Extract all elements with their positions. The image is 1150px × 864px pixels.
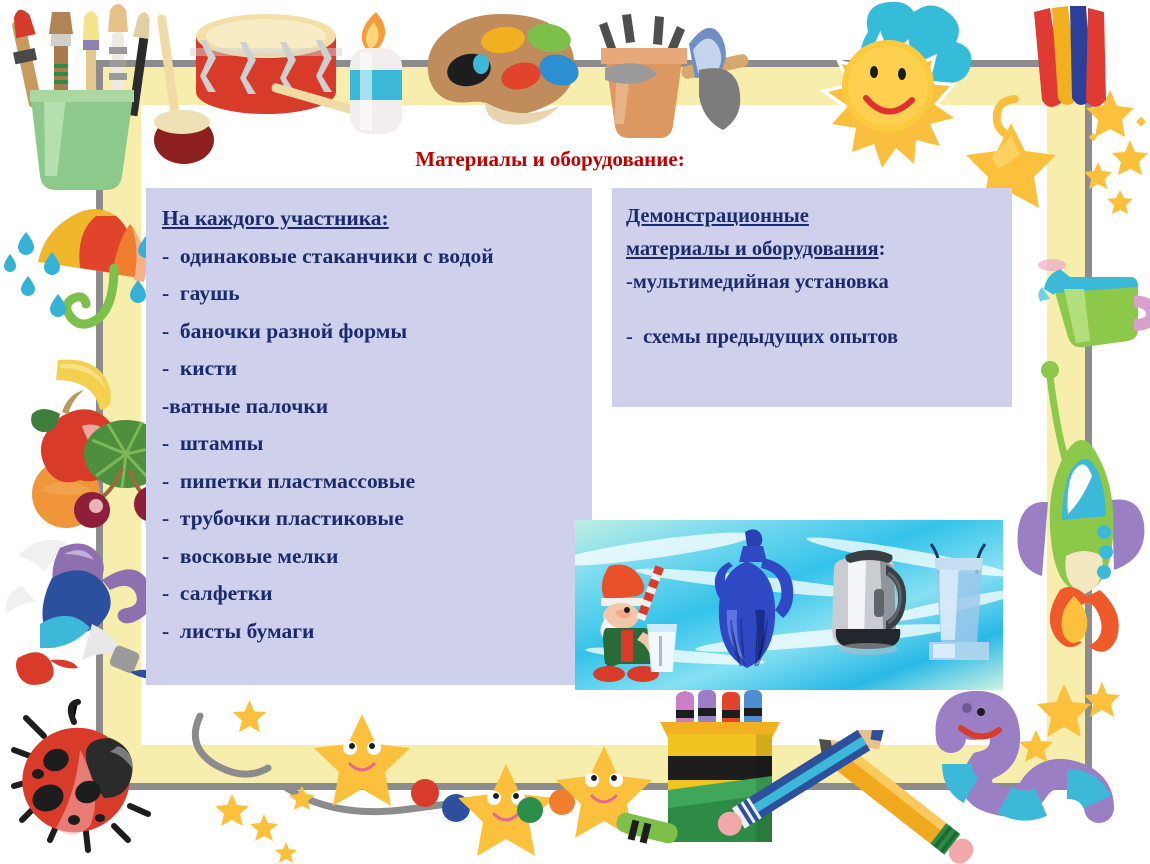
right-box-heading-line2-row: материалы и оборудования: [626, 233, 1012, 266]
stars-bottom-right-icon [1026, 682, 1126, 772]
list-item: - салфетки [162, 575, 592, 613]
right-box-heading-line1: Демонстрационные [626, 205, 809, 227]
watering-can-icon [1038, 255, 1150, 370]
slide-canvas: Материалы и оборудование: На каждого уча… [0, 0, 1150, 864]
list-item: - одинаковые стаканчики с водой [162, 238, 592, 276]
star-garland-icon [172, 698, 612, 864]
demonstration-materials-box: Демонстрационные материалы и оборудовани… [612, 188, 1012, 407]
list-item: - восковые мелки [162, 538, 592, 576]
list-item: - схемы предыдущих опытов [626, 321, 1012, 354]
flower-pot-garden-tools-icon [585, 4, 775, 144]
water-vessels-photo [575, 520, 1003, 690]
ladybug-icon [14, 702, 174, 852]
materials-per-participant-box: На каждого участника: - одинаковые стака… [146, 188, 592, 685]
page-title: Материалы и оборудование: [300, 146, 800, 172]
right-box-heading: Демонстрационные [626, 200, 1012, 233]
paint-palette-icon [425, 8, 585, 133]
water-glass-icon [925, 538, 995, 668]
right-box-heading-line2: материалы и оборудования [626, 238, 879, 260]
fruits-icon [4, 350, 164, 550]
left-box-heading: На каждого участника: [162, 200, 592, 238]
blue-pitcher-icon [715, 528, 805, 688]
list-item: - пипетки пластмассовые [162, 463, 592, 501]
spacer [626, 299, 1012, 321]
list-item: - баночки разной формы [162, 313, 592, 351]
candle-icon [328, 8, 413, 138]
stars-icon [1086, 90, 1150, 220]
rocket-icon [1018, 360, 1150, 650]
paint-brushes-cup-icon [8, 2, 183, 192]
list-item: - гаушь [162, 275, 592, 313]
umbrella-with-raindrops-icon [6, 198, 166, 348]
list-item: -мультимедийная установка [626, 266, 1012, 299]
gnome-with-glass-icon [587, 562, 687, 682]
list-item: - кисти [162, 350, 592, 388]
paint-tubes-icon [4, 530, 169, 690]
crayon-box-icon [616, 690, 806, 864]
electric-kettle-icon [828, 547, 913, 662]
right-box-heading-colon: : [879, 238, 886, 260]
list-item: - трубочки пластиковые [162, 500, 592, 538]
list-item: - листы бумаги [162, 613, 592, 651]
list-item: - штампы [162, 425, 592, 463]
list-item: -ватные палочки [162, 388, 592, 426]
